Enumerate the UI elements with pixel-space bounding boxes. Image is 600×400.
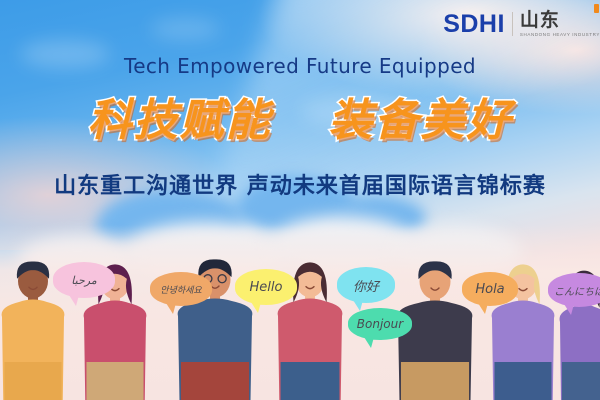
bubble-spanish: Hola xyxy=(462,272,518,306)
bubble-arabic: مرحبا xyxy=(53,262,115,298)
bubble-french: Bonjour xyxy=(348,308,412,340)
language-championship-banner: SDHI 山东 SHANDONG HEAVY INDUSTRY Tech Emp… xyxy=(0,0,600,400)
bubble-english: Hello xyxy=(235,269,297,305)
bubble-japanese: こんにちは xyxy=(548,273,600,307)
bubble-korean: 안녕하세요 xyxy=(150,272,212,306)
bubble-chinese: 你好 xyxy=(337,267,395,303)
people-illustration xyxy=(0,0,600,400)
illustration-layer xyxy=(0,0,600,400)
